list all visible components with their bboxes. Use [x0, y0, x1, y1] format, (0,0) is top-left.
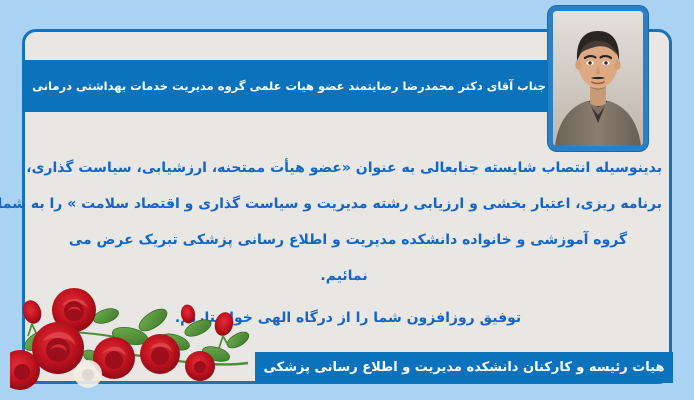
congratulation-poster: جناب آقای دکتر محمدرضا رضایتمند عضو هیات… [0, 0, 694, 400]
header-title: جناب آقای دکتر محمدرضا رضایتمند عضو هیات… [32, 79, 546, 93]
body-text: بدینوسیله انتصاب شایسته جنابعالی به عنوا… [34, 150, 662, 336]
header-band: جناب آقای دکتر محمدرضا رضایتمند عضو هیات… [22, 60, 562, 112]
footer-signature: هیات رئیسه و کارکنان دانشکده مدیریت و اط… [264, 360, 665, 375]
footer-band: هیات رئیسه و کارکنان دانشکده مدیریت و اط… [255, 352, 673, 383]
portrait-photo-frame [548, 6, 648, 151]
body-line-3: گروه آموزشی و خانواده دانشکده مدیریت و ا… [34, 222, 662, 258]
body-line-2: برنامه ریزی، اعتبار بخشی و ارزیابی رشته … [34, 186, 662, 222]
body-line-4: نمائیم. [34, 258, 662, 294]
body-line-5: توفیق روزافزون شما را از درگاه الهی خواس… [34, 294, 662, 336]
portrait-photo [553, 11, 643, 146]
body-line-1: بدینوسیله انتصاب شایسته جنابعالی به عنوا… [34, 150, 662, 186]
portrait-photo-image [553, 11, 643, 146]
